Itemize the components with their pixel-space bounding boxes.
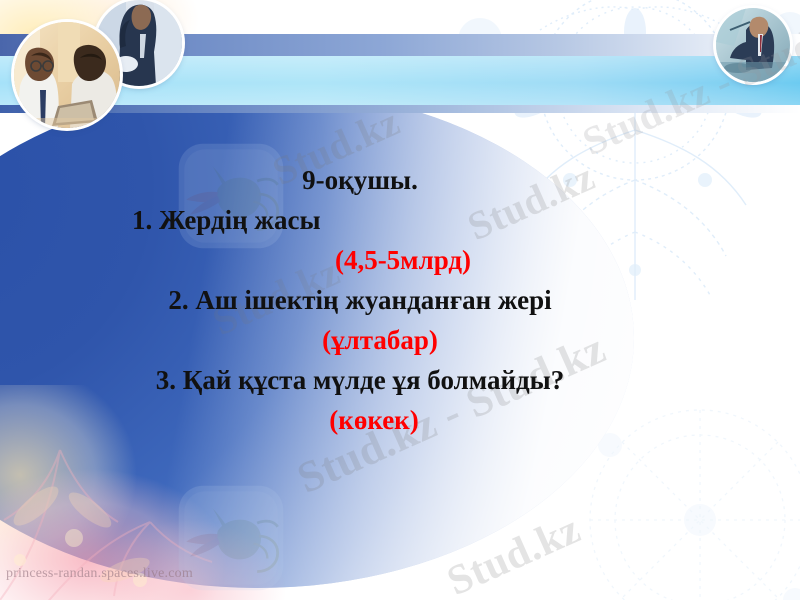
photo-students-laptop — [14, 22, 120, 128]
answer-item-2: (ұлтабар) — [0, 320, 720, 360]
slide-canvas: Stud.kz - Stud.kz Stud.kz Stud.kz Stud.k… — [0, 0, 800, 600]
slide-body-text: 9-оқушы. 1. Жердің жасы (4,5-5млрд) 2. А… — [0, 160, 720, 440]
slide-heading: 9-оқушы. — [0, 160, 720, 200]
question-item-3: 3. Қай құста мүлде ұя болмайды? — [0, 360, 720, 400]
answer-item-1: (4,5-5млрд) — [0, 240, 720, 280]
source-url-text: princess-randan.spaces.live.com — [6, 566, 193, 582]
photo-businessman-desk — [716, 8, 790, 82]
question-item-1: 1. Жердің жасы — [0, 200, 720, 240]
header-band-underline — [0, 105, 800, 113]
question-item-2: 2. Аш ішектің жуанданған жері — [0, 280, 720, 320]
answer-item-3: (көкек) — [0, 400, 720, 440]
